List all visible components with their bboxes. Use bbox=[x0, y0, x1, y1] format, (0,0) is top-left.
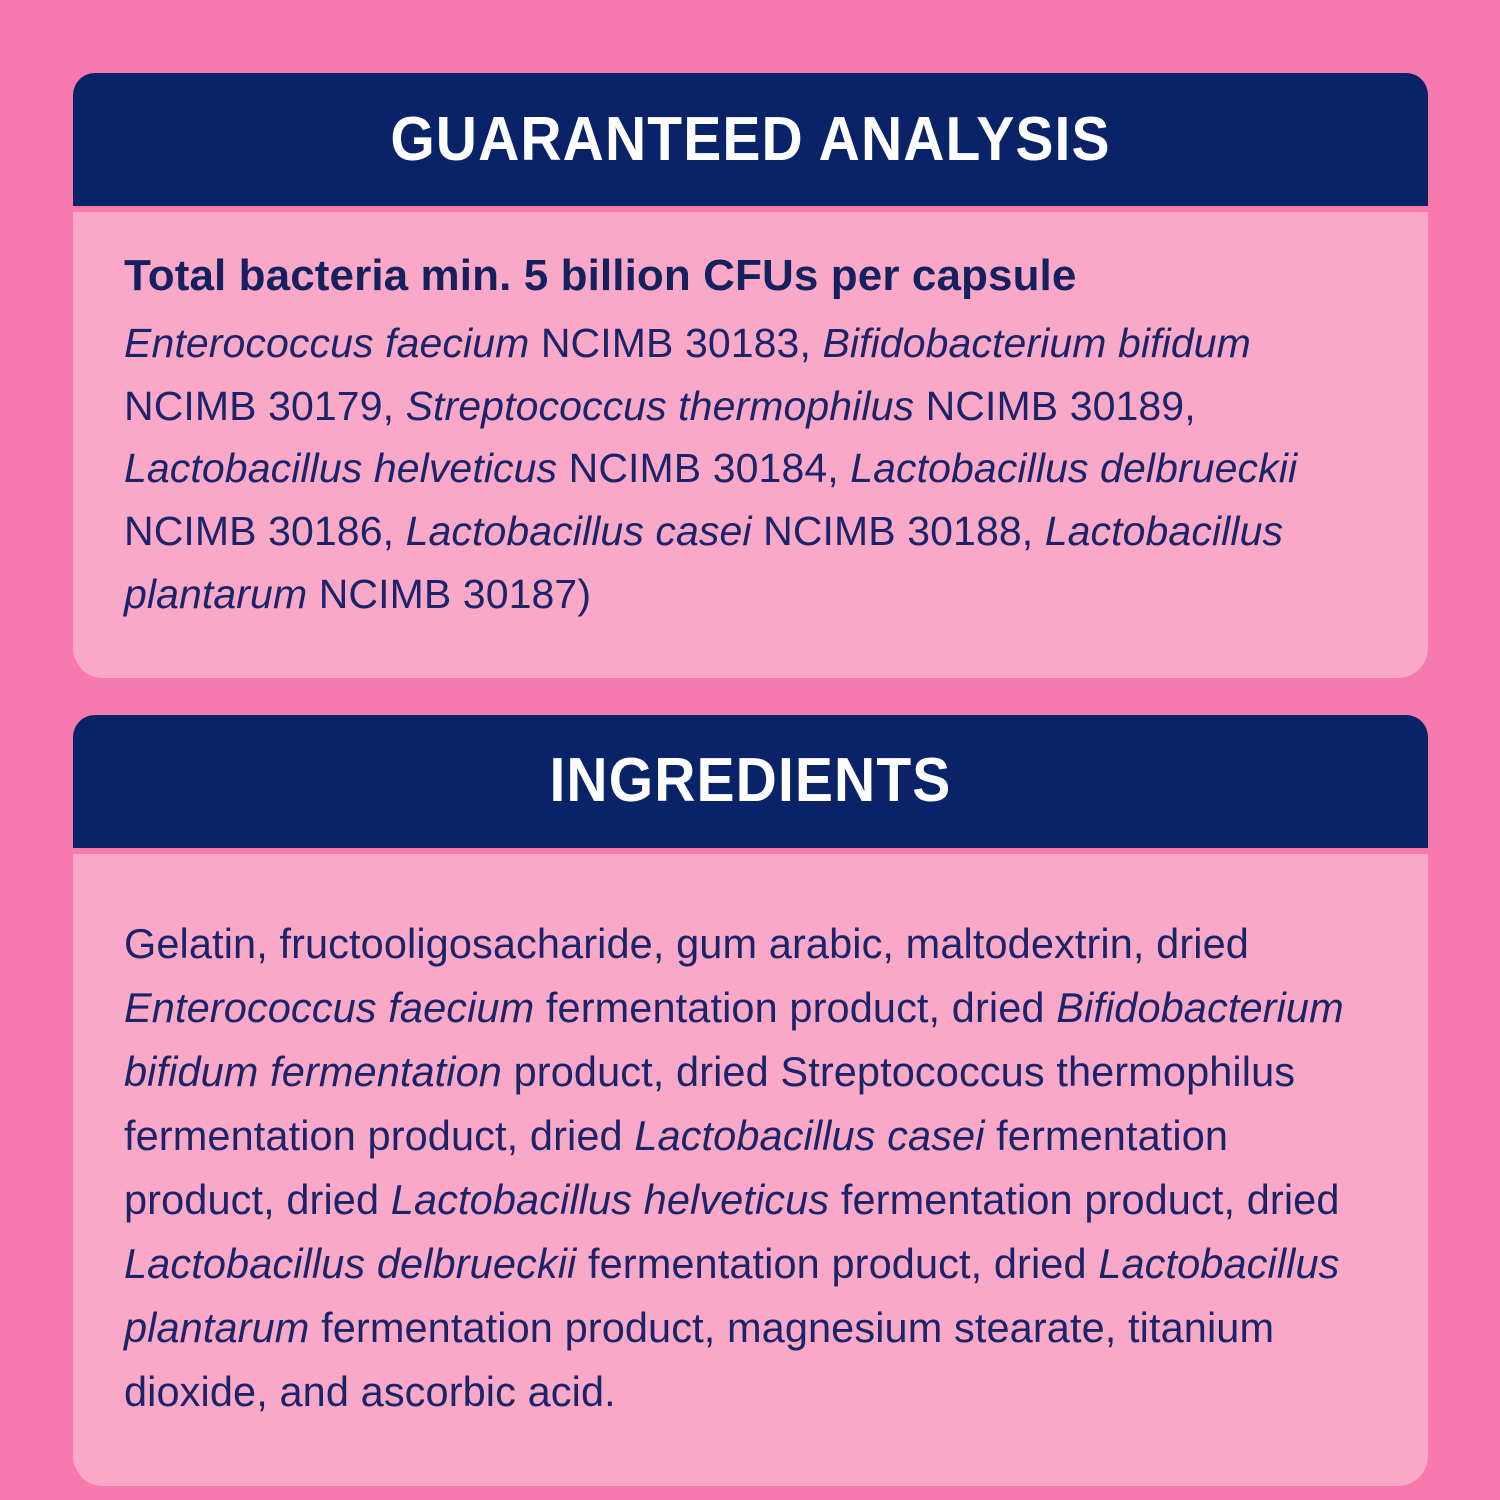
supplement-label-page: GUARANTEED ANALYSIS Total bacteria min. … bbox=[0, 0, 1500, 1500]
ingredients-body: Gelatin, fructooligosacharide, gum arabi… bbox=[73, 854, 1428, 1487]
ingredients-list: Gelatin, fructooligosacharide, gum arabi… bbox=[124, 912, 1380, 1425]
section-guaranteed-analysis: GUARANTEED ANALYSIS Total bacteria min. … bbox=[73, 73, 1428, 678]
guaranteed-analysis-title: GUARANTEED ANALYSIS bbox=[390, 109, 1110, 171]
guaranteed-analysis-body: Total bacteria min. 5 billion CFUs per c… bbox=[73, 212, 1428, 678]
section-ingredients: INGREDIENTS Gelatin, fructooligosacharid… bbox=[73, 715, 1428, 1487]
guaranteed-analysis-strain-list: Enterococcus faecium NCIMB 30183, Bifido… bbox=[124, 312, 1380, 626]
ingredients-title: INGREDIENTS bbox=[550, 750, 952, 812]
guaranteed-analysis-header: GUARANTEED ANALYSIS bbox=[73, 73, 1428, 206]
total-bacteria-statement: Total bacteria min. 5 billion CFUs per c… bbox=[124, 250, 1380, 302]
ingredients-header: INGREDIENTS bbox=[73, 715, 1428, 848]
